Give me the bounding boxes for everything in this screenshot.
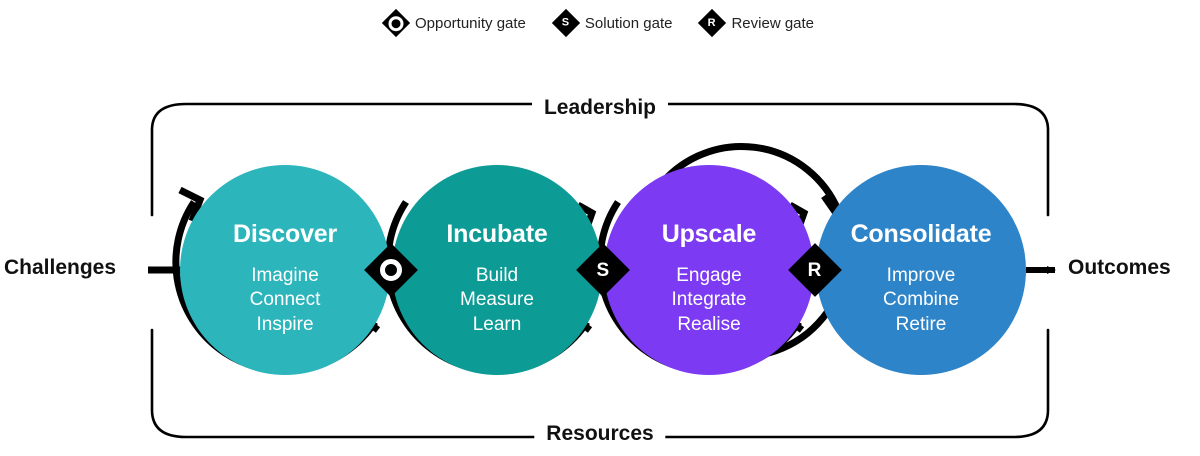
incubate-cycle-arc — [388, 202, 592, 371]
legend-item-opportunity: Opportunity gate — [386, 13, 526, 33]
legend-label-opportunity: Opportunity gate — [415, 15, 526, 32]
process-diagram: Opportunity gate S Solution gate R Revie… — [0, 0, 1200, 456]
diagram-vector-layer — [0, 0, 1200, 456]
resources-label: Resources — [534, 422, 665, 446]
leadership-label: Leadership — [532, 96, 668, 120]
opportunity-gate-diamond-icon — [382, 9, 410, 37]
discover-cycle-arc — [176, 190, 378, 371]
legend-label-review: Review gate — [731, 15, 814, 32]
resources-bracket — [152, 330, 1048, 437]
gate-solution-glyph: S — [597, 261, 610, 280]
leadership-bracket — [152, 104, 1048, 215]
solution-gate-diamond-icon: S — [552, 9, 580, 37]
legend-item-solution: S Solution gate — [556, 13, 673, 33]
solution-gate-glyph: S — [562, 18, 569, 29]
outcomes-label: Outcomes — [1068, 256, 1171, 280]
consolidate-cycle-arc — [637, 146, 858, 356]
gate-review-glyph: R — [808, 260, 822, 279]
gate-legend: Opportunity gate S Solution gate R Revie… — [0, 13, 1200, 33]
review-gate-diamond-icon: R — [698, 9, 726, 37]
challenges-label: Challenges — [4, 256, 116, 280]
challenges-connector — [148, 243, 196, 270]
legend-label-solution: Solution gate — [585, 15, 673, 32]
review-gate-glyph: R — [708, 17, 716, 28]
legend-item-review: R Review gate — [702, 13, 814, 33]
